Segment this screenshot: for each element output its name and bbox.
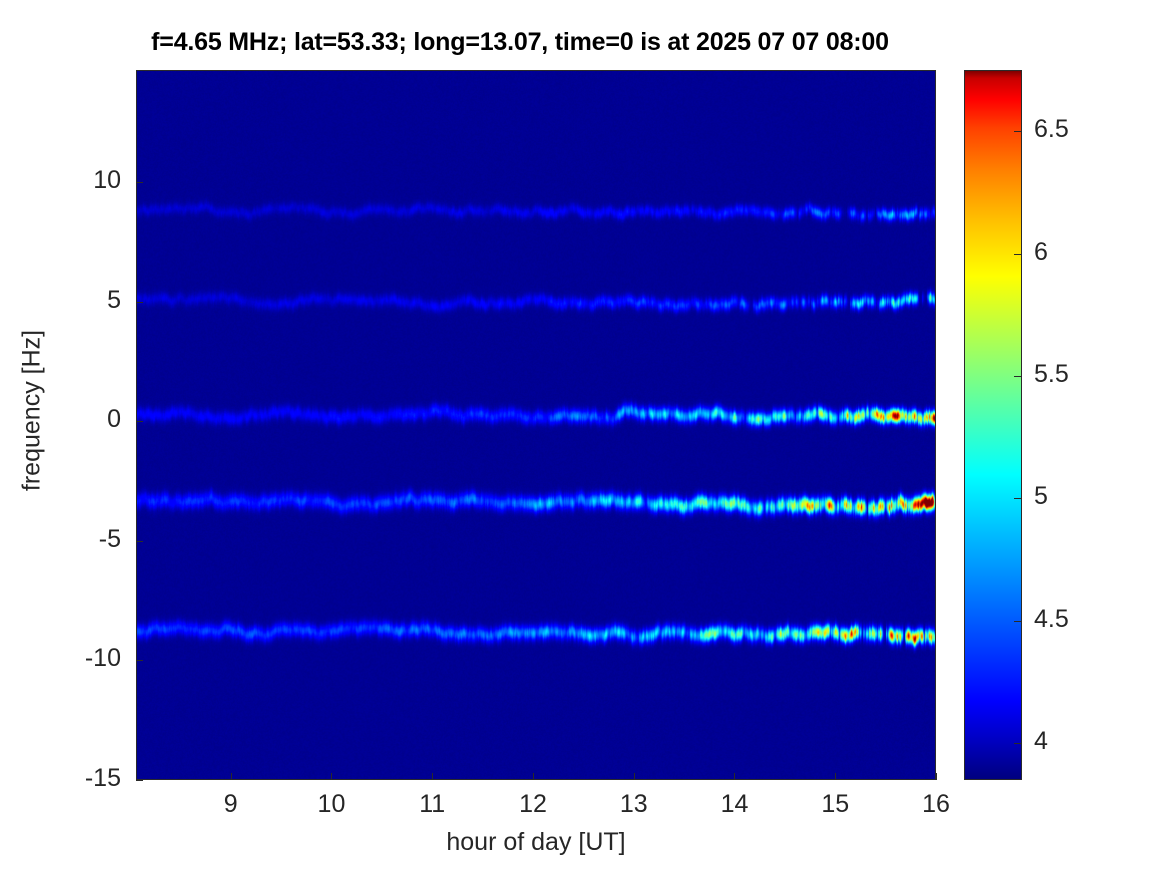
- x-tick-label: 11: [392, 790, 472, 819]
- x-tick-label: 14: [694, 790, 774, 819]
- x-tick-label: 16: [896, 790, 976, 819]
- x-tick-mark: [734, 773, 735, 780]
- x-tick-mark: [936, 773, 937, 780]
- x-tick-mark: [231, 773, 232, 780]
- y-tick-mark: [136, 182, 143, 183]
- colorbar-tick-mark: [1014, 498, 1022, 499]
- colorbar-tick-label: 4: [1034, 727, 1124, 756]
- x-tick-mark: [835, 773, 836, 780]
- y-tick-mark: [136, 421, 143, 422]
- colorbar-tick-label: 6.5: [1034, 115, 1124, 144]
- y-tick-mark: [136, 660, 143, 661]
- x-tick-label: 10: [291, 790, 371, 819]
- colorbar-tick-mark: [1014, 621, 1022, 622]
- x-axis-label: hour of day [UT]: [136, 828, 936, 857]
- colorbar-tick-label: 6: [1034, 238, 1124, 267]
- figure-root: f=4.65 MHz; lat=53.33; long=13.07, time=…: [0, 0, 1167, 875]
- y-tick-mark: [136, 541, 143, 542]
- x-tick-mark: [634, 773, 635, 780]
- figure-title: f=4.65 MHz; lat=53.33; long=13.07, time=…: [0, 28, 1040, 57]
- colorbar-tick-mark: [1014, 131, 1022, 132]
- spectrogram-axes[interactable]: [136, 70, 936, 780]
- colorbar-tick-label: 5: [1034, 482, 1124, 511]
- colorbar-tick-label: 4.5: [1034, 605, 1124, 634]
- y-tick-mark: [136, 302, 143, 303]
- x-tick-mark: [533, 773, 534, 780]
- colorbar-tick-mark: [1014, 254, 1022, 255]
- colorbar-tick-mark: [1014, 743, 1022, 744]
- x-tick-mark: [432, 773, 433, 780]
- y-axis-label: frequency [Hz]: [18, 151, 47, 671]
- x-tick-label: 15: [795, 790, 875, 819]
- x-tick-label: 12: [493, 790, 573, 819]
- colorbar-tick-mark: [1014, 376, 1022, 377]
- y-tick-label: -15: [1, 764, 121, 793]
- x-tick-mark: [331, 773, 332, 780]
- y-tick-mark: [136, 780, 143, 781]
- x-tick-label: 13: [594, 790, 674, 819]
- spectrogram-image: [137, 71, 935, 779]
- colorbar[interactable]: [964, 70, 1022, 780]
- x-tick-label: 9: [191, 790, 271, 819]
- colorbar-tick-label: 5.5: [1034, 360, 1124, 389]
